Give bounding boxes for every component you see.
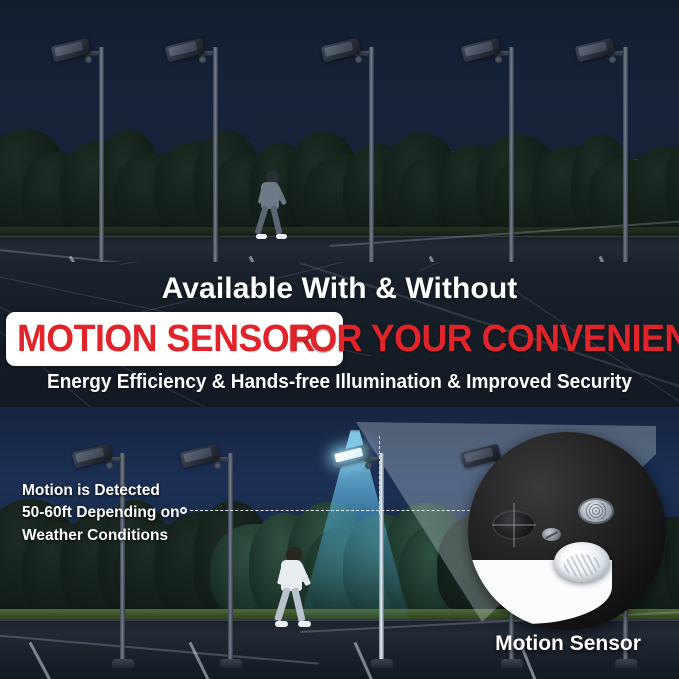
headline-band: Available With & Without MOTION SENSOR F… (0, 262, 679, 407)
motion-sensor-bulb-icon (609, 56, 616, 63)
badge-label: MOTION SENSOR (17, 320, 315, 358)
light-pole-off (99, 47, 104, 275)
person-shoe (276, 234, 287, 239)
light-pole-off (213, 47, 218, 275)
person-leg (291, 587, 306, 622)
pole-base (615, 659, 637, 668)
pavement-line (420, 262, 679, 271)
pole-base (220, 659, 242, 668)
product-feature-banner: Available With & Without MOTION SENSOR F… (0, 0, 679, 679)
pole-base (501, 659, 523, 668)
person-leg (270, 206, 283, 236)
cable-gland-cap (492, 510, 536, 540)
person-phone (302, 575, 308, 582)
callout-line-2: 50-60ft Depending on (22, 502, 180, 524)
pole-shaft (213, 47, 218, 275)
leader-endpoint-dot (180, 507, 187, 514)
scene-photo-lights-off (0, 0, 679, 285)
person-shoe (298, 621, 311, 627)
callout-line-3: Weather Conditions (22, 525, 180, 547)
motion-sensor-magnifier (468, 432, 666, 630)
light-pole-off (369, 47, 374, 275)
detection-callout: Motion is Detected 50-60ft Depending on … (22, 480, 180, 547)
person-shoe (256, 234, 267, 239)
motion-sensor-bulb-icon (106, 462, 113, 469)
pedestrian (250, 171, 284, 241)
motion-sensor-bulb-icon (214, 462, 221, 469)
magnifier-caption: Motion Sensor (470, 632, 666, 656)
motion-sensor-bulb-icon (355, 56, 362, 63)
pir-sensor-dome (554, 542, 610, 582)
detection-guide-vertical (379, 436, 380, 514)
pole-base (112, 659, 134, 668)
pole-shaft (99, 47, 104, 275)
light-pole-off (623, 47, 628, 275)
pedestrian-lit (268, 547, 306, 629)
motion-sensor-bulb-icon (85, 56, 92, 63)
person-leg (255, 205, 269, 235)
motion-sensor-bulb-icon (495, 56, 502, 63)
motion-sensor-bulb-icon (365, 462, 372, 469)
person-shoe (275, 621, 288, 627)
pole-shaft (369, 47, 374, 275)
pole-base (371, 659, 393, 668)
pole-shaft (509, 47, 514, 275)
person-leg (274, 587, 291, 622)
headline-emphasis-rest: FOR YOUR CONVENIENCE (288, 312, 679, 366)
light-pole-off (509, 47, 514, 275)
pavement-line (120, 262, 634, 265)
motion-sensor-bulb-icon (199, 56, 206, 63)
adjustment-screw (542, 528, 561, 541)
photocell-label-disc (578, 498, 614, 524)
detection-leader-line (190, 510, 490, 511)
subheadline-text: Energy Efficiency & Hands-free Illuminat… (17, 372, 662, 392)
person-phone (279, 195, 284, 201)
callout-line-1: Motion is Detected (22, 480, 180, 502)
headline-text: Available With & Without (0, 274, 679, 304)
pole-shaft (623, 47, 628, 275)
pole-shaft (228, 453, 233, 665)
light-pole-off (228, 453, 233, 665)
headline-emphasis-row: MOTION SENSOR FOR YOUR CONVENIENCE (0, 312, 679, 366)
